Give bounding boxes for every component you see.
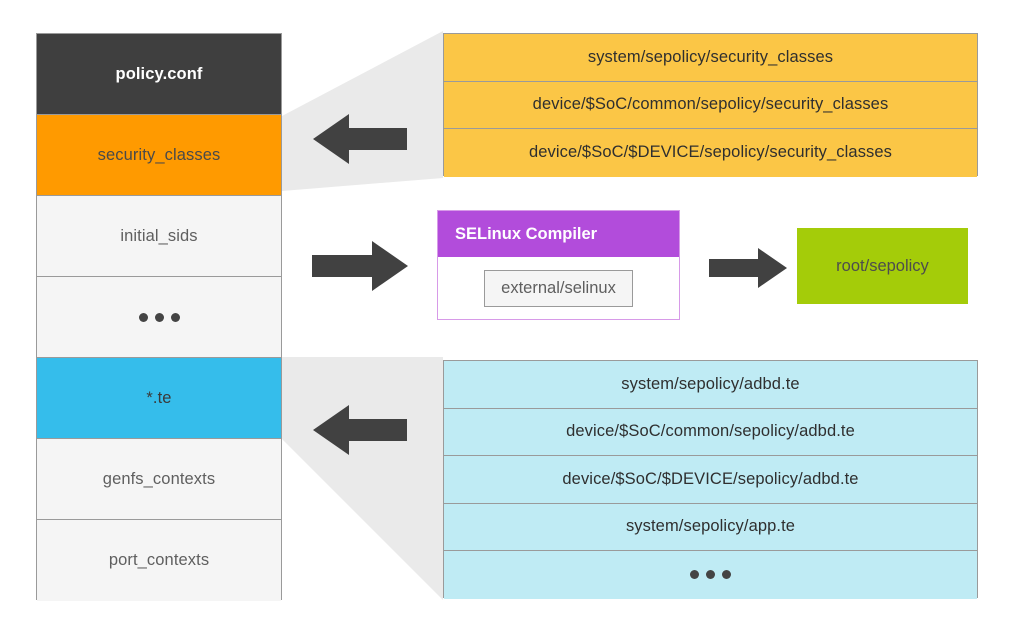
policy-cell-label: security_classes [98,146,221,165]
ellipsis-icon [690,570,731,579]
file-row-label: device/$SoC/common/sepolicy/security_cla… [533,95,889,114]
file-row[interactable]: device/$SoC/$DEVICE/sepolicy/adbd.te [444,456,977,504]
policy-cell-security-classes[interactable]: security_classes [37,115,281,196]
file-row[interactable]: device/$SoC/common/sepolicy/adbd.te [444,409,977,457]
arrow-right-compile [312,240,408,292]
policy-cell-label: port_contexts [109,551,209,570]
compiler-body: external/selinux [438,257,679,319]
output-sepolicy-box[interactable]: root/sepolicy [797,228,968,304]
policy-cell-label: policy.conf [116,65,203,84]
funnel-te [282,357,443,600]
diagram-canvas: policy.conf security_classes initial_sid… [0,0,1013,618]
compiler-title: SELinux Compiler [438,211,679,257]
policy-cell-initial-sids[interactable]: initial_sids [37,196,281,277]
file-row[interactable]: device/$SoC/common/sepolicy/security_cla… [444,82,977,130]
policy-cell-ellipsis [37,277,281,358]
file-row-label: device/$SoC/$DEVICE/sepolicy/adbd.te [562,470,858,489]
file-row[interactable]: system/sepolicy/app.te [444,504,977,552]
policy-cell-label: initial_sids [120,227,197,246]
file-row-label: system/sepolicy/adbd.te [621,375,799,394]
funnel-security-classes [282,31,443,191]
te-source-list: system/sepolicy/adbd.te device/$SoC/comm… [443,360,978,598]
file-row[interactable]: system/sepolicy/adbd.te [444,361,977,409]
file-row[interactable]: system/sepolicy/security_classes [444,34,977,82]
policy-cell-policy-conf[interactable]: policy.conf [37,34,281,115]
policy-cell-genfs-contexts[interactable]: genfs_contexts [37,439,281,520]
ellipsis-icon [139,313,180,322]
file-row-label: device/$SoC/common/sepolicy/adbd.te [566,422,855,441]
arrow-right-output [709,247,787,289]
output-label: root/sepolicy [836,257,929,276]
file-row[interactable]: device/$SoC/$DEVICE/sepolicy/security_cl… [444,129,977,177]
file-row-ellipsis [444,551,977,599]
file-row-label: device/$SoC/$DEVICE/sepolicy/security_cl… [529,143,892,162]
arrow-left-te [313,403,407,457]
file-row-label: system/sepolicy/app.te [626,517,795,536]
policy-cell-te[interactable]: *.te [37,358,281,439]
policy-cell-label: genfs_contexts [103,470,215,489]
policy-cell-label: *.te [146,389,171,408]
arrow-left-security-classes [313,112,407,166]
policy-conf-column: policy.conf security_classes initial_sid… [36,33,282,600]
file-row-label: system/sepolicy/security_classes [588,48,833,67]
policy-cell-port-contexts[interactable]: port_contexts [37,520,281,601]
security-classes-source-list: system/sepolicy/security_classes device/… [443,33,978,176]
compiler-source-chip[interactable]: external/selinux [484,270,633,307]
selinux-compiler-card: SELinux Compiler external/selinux [437,210,680,320]
